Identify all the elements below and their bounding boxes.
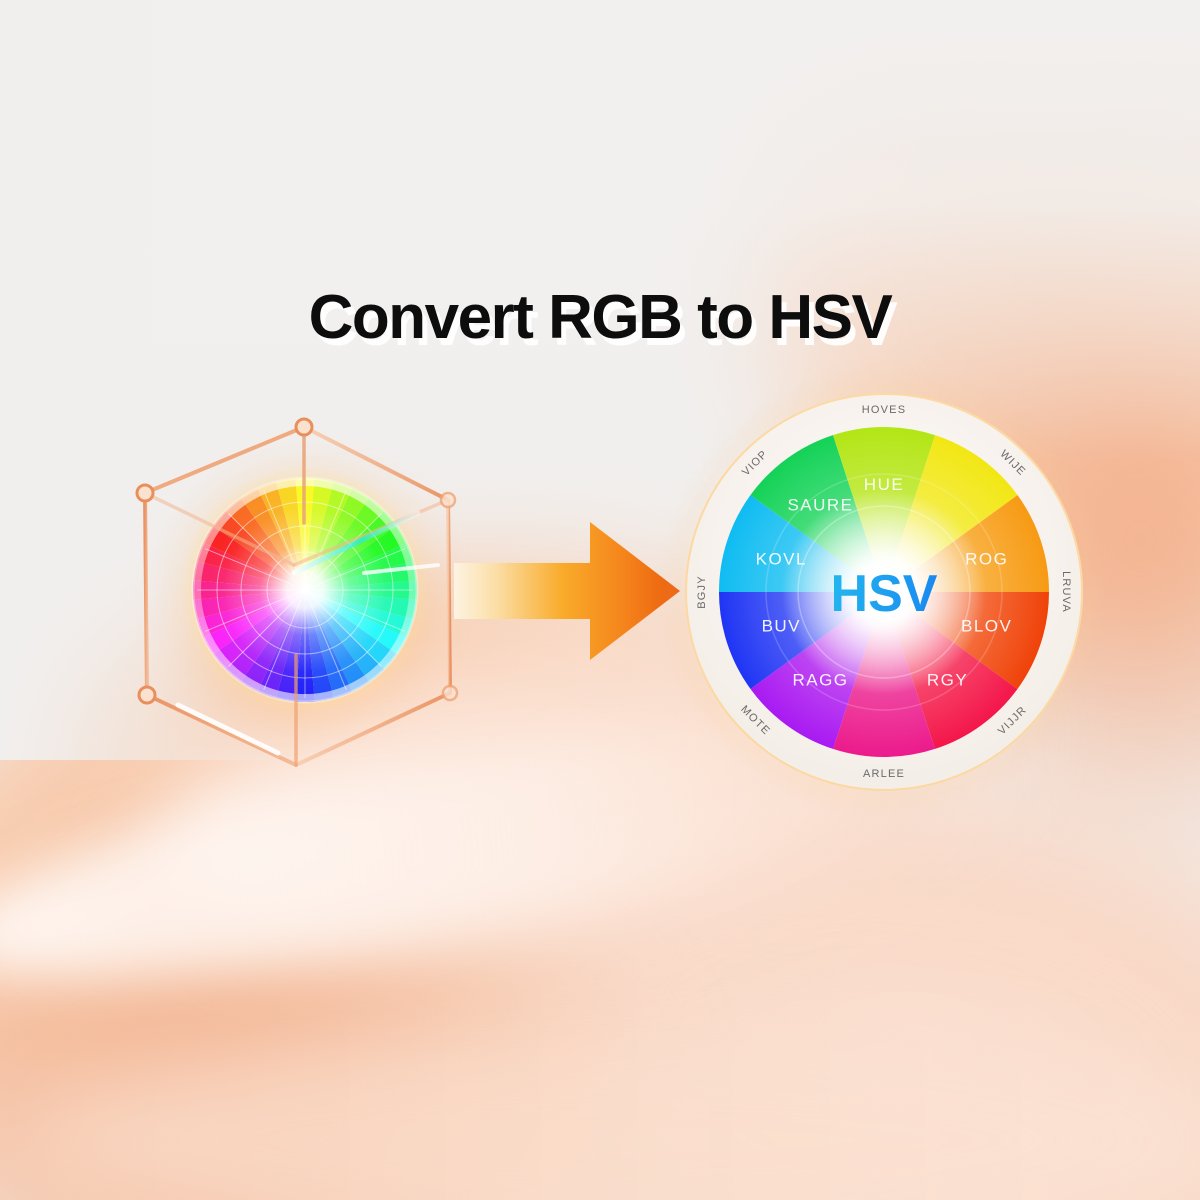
wheel-center-label: HSV [684, 568, 1084, 620]
wheel-sector-label-rog: ROG [965, 550, 1008, 569]
cube-wireframe [118, 405, 488, 775]
wheel-sector-label-hue: HUE [864, 475, 904, 494]
rgb-cube-graphic [118, 405, 488, 775]
wheel-sector-label-saure: SAURE [787, 496, 853, 515]
conversion-arrow [448, 516, 688, 666]
background-blob-bottom-left [0, 880, 640, 1200]
page-title: Convert RGB to HSV [0, 282, 1200, 353]
wheel-sector-label-rgy: RGY [927, 670, 968, 689]
background-top-fade [0, 0, 1200, 460]
hsv-color-wheel: ROGBLOVRGYRAGGBUVKOVLSAUREHUE HOVESWIJEL… [684, 392, 1084, 792]
wheel-ring-label-arlee: ARLEE [863, 768, 905, 780]
wheel-sector-label-kovl: KOVL [756, 550, 807, 569]
poster-canvas: Convert RGB to HSV [0, 0, 1200, 1200]
wheel-sector-label-ragg: RAGG [792, 670, 848, 689]
background-blob-bottom [0, 1010, 1200, 1200]
wheel-ring-label-hoves: HOVES [862, 404, 907, 416]
